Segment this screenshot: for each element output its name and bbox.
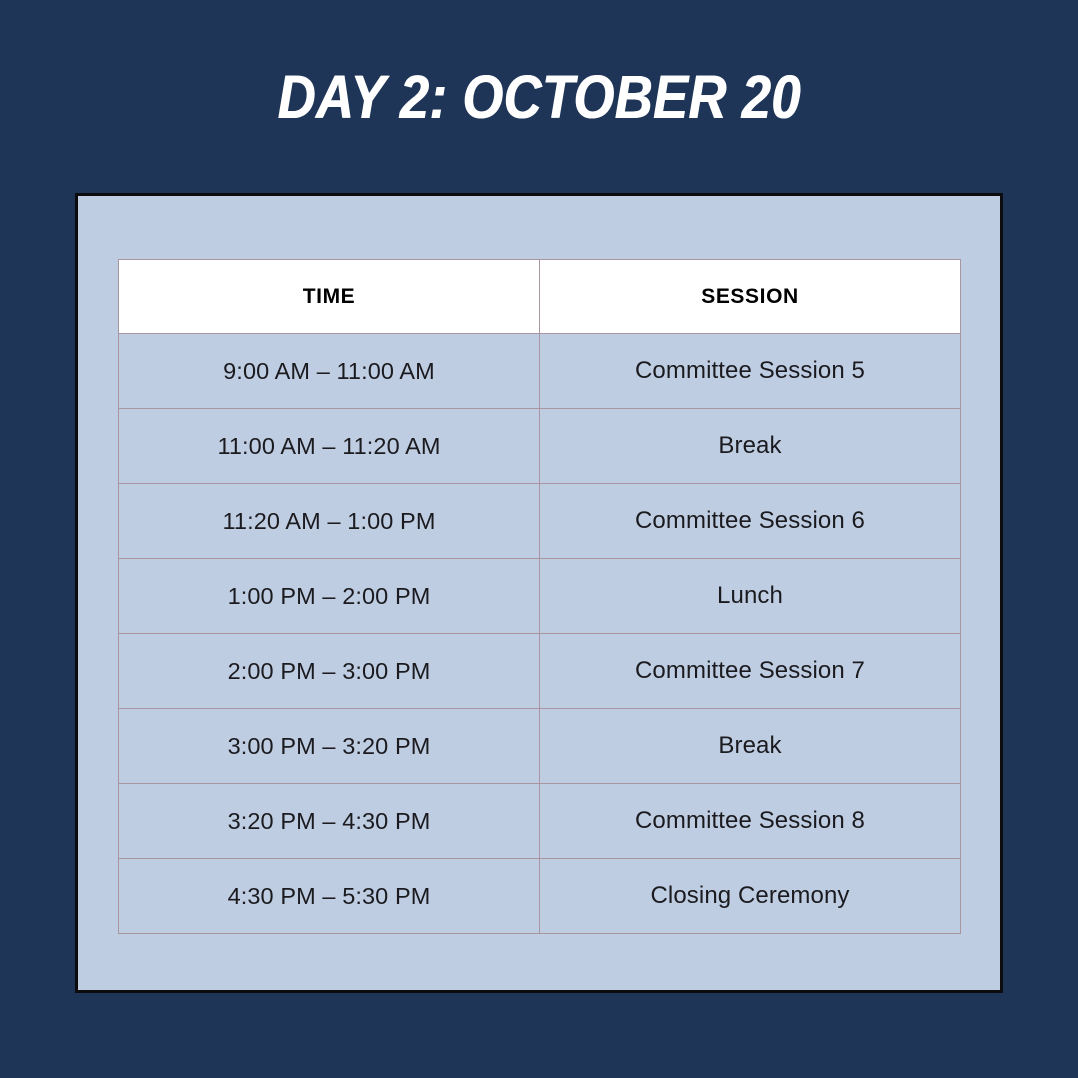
cell-time: 11:20 AM – 1:00 PM xyxy=(119,484,540,559)
cell-session: Break xyxy=(540,409,961,484)
cell-time: 9:00 AM – 11:00 AM xyxy=(119,334,540,409)
cell-time: 11:00 AM – 11:20 AM xyxy=(119,409,540,484)
table-body: 9:00 AM – 11:00 AM Committee Session 5 1… xyxy=(119,334,961,934)
table-row: 1:00 PM – 2:00 PM Lunch xyxy=(119,559,961,634)
table-row: 11:20 AM – 1:00 PM Committee Session 6 xyxy=(119,484,961,559)
cell-time: 1:00 PM – 2:00 PM xyxy=(119,559,540,634)
schedule-poster: DAY 2: OCTOBER 20 TIME SESSION 9:00 AM –… xyxy=(0,0,1078,1078)
cell-session: Committee Session 5 xyxy=(540,334,961,409)
cell-time: 3:00 PM – 3:20 PM xyxy=(119,709,540,784)
cell-session: Lunch xyxy=(540,559,961,634)
cell-session: Break xyxy=(540,709,961,784)
column-header-session: SESSION xyxy=(540,260,961,334)
cell-session: Committee Session 8 xyxy=(540,784,961,859)
table-row: 3:20 PM – 4:30 PM Committee Session 8 xyxy=(119,784,961,859)
table-row: 2:00 PM – 3:00 PM Committee Session 7 xyxy=(119,634,961,709)
cell-time: 4:30 PM – 5:30 PM xyxy=(119,859,540,934)
table-row: 11:00 AM – 11:20 AM Break xyxy=(119,409,961,484)
cell-time: 3:20 PM – 4:30 PM xyxy=(119,784,540,859)
cell-session: Committee Session 7 xyxy=(540,634,961,709)
cell-session: Committee Session 6 xyxy=(540,484,961,559)
table-row: 4:30 PM – 5:30 PM Closing Ceremony xyxy=(119,859,961,934)
cell-session: Closing Ceremony xyxy=(540,859,961,934)
table-row: 3:00 PM – 3:20 PM Break xyxy=(119,709,961,784)
page-title: DAY 2: OCTOBER 20 xyxy=(75,62,1002,132)
schedule-table: TIME SESSION 9:00 AM – 11:00 AM Committe… xyxy=(118,259,961,934)
table-header-row: TIME SESSION xyxy=(119,260,961,334)
table-row: 9:00 AM – 11:00 AM Committee Session 5 xyxy=(119,334,961,409)
table-header: TIME SESSION xyxy=(119,260,961,334)
cell-time: 2:00 PM – 3:00 PM xyxy=(119,634,540,709)
column-header-time: TIME xyxy=(119,260,540,334)
